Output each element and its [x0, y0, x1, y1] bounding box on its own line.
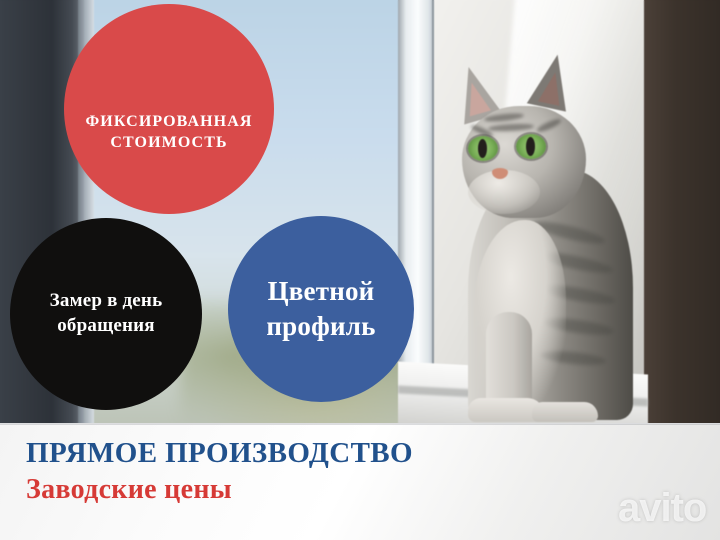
bubble-fixed-price-line2: СТОИМОСТЬ	[110, 134, 227, 151]
cat-pupil-left	[478, 139, 487, 158]
bubble-profile-line1: Цветной	[268, 276, 375, 306]
advertisement-card: ФИКСИРОВАННАЯ СТОИМОСТЬ Замер в день обр…	[0, 0, 720, 540]
feature-bubble-fixed-price: ФИКСИРОВАННАЯ СТОИМОСТЬ	[64, 4, 274, 214]
feature-bubble-same-day-measurement: Замер в день обращения	[10, 218, 202, 410]
banner-subline: Заводские цены	[26, 474, 413, 506]
cat-photo-subject	[440, 50, 680, 420]
bottom-banner: ПРЯМОЕ ПРОИЗВОДСТВО Заводские цены КОНСИ…	[0, 423, 720, 540]
banner-headline: ПРЯМОЕ ПРОИЗВОДСТВО	[26, 437, 413, 470]
bubble-measurement-line1: Замер в день	[50, 290, 163, 311]
feature-bubble-colored-profile: Цветной профиль	[228, 216, 414, 402]
banner-top-divider	[0, 423, 720, 425]
bubble-measurement-line2: обращения	[57, 315, 155, 336]
cat-paw	[532, 402, 598, 422]
bubble-fixed-price-line1: ФИКСИРОВАННАЯ	[85, 113, 252, 130]
cat-pupil-right	[526, 137, 535, 156]
bubble-profile-line2: профиль	[266, 311, 375, 341]
banner-text-block: ПРЯМОЕ ПРОИЗВОДСТВО Заводские цены	[26, 437, 413, 506]
